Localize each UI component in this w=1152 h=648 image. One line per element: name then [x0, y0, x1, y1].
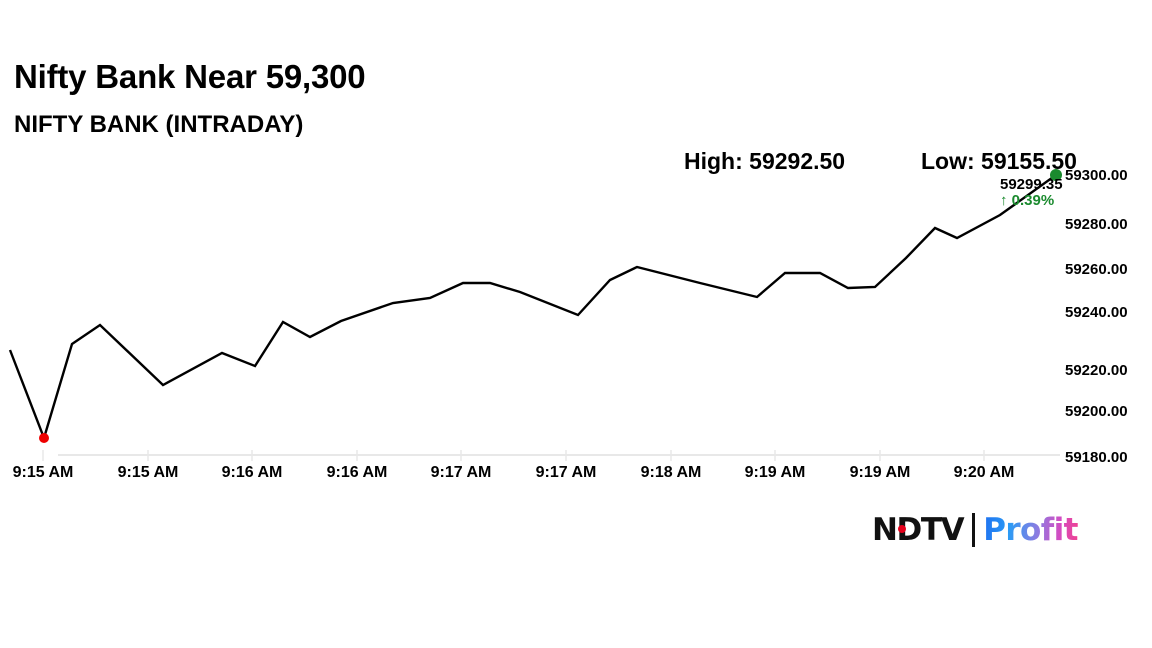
x-axis-tick-label: 9:15 AM	[118, 465, 179, 481]
price-line	[10, 175, 1056, 438]
ndtv-red-dot-icon	[898, 525, 906, 533]
x-axis-tick-label: 9:16 AM	[327, 465, 388, 481]
profit-wordmark: Profit	[983, 512, 1078, 548]
x-axis: 9:15 AM9:15 AM9:16 AM9:16 AM9:17 AM9:17 …	[0, 465, 1152, 489]
y-axis: 59300.0059280.0059260.0059240.0059220.00…	[1065, 0, 1152, 480]
ndtv-wordmark: NDTV	[872, 512, 963, 548]
y-axis-tick-label: 59240.00	[1065, 305, 1128, 320]
y-axis-tick-label: 59180.00	[1065, 450, 1128, 465]
x-axis-tick-label: 9:15 AM	[13, 465, 74, 481]
x-axis-tick-label: 9:17 AM	[431, 465, 492, 481]
last-price-callout: 59299.35 ↑ 0.39%	[1000, 177, 1063, 209]
x-axis-tick-label: 9:18 AM	[641, 465, 702, 481]
y-axis-tick-label: 59280.00	[1065, 217, 1128, 232]
chart-gridlines	[43, 450, 1060, 461]
x-axis-tick-label: 9:17 AM	[536, 465, 597, 481]
intraday-line-chart	[0, 0, 1152, 648]
x-axis-tick-label: 9:20 AM	[954, 465, 1015, 481]
ndtv-text: NDTV	[872, 512, 963, 548]
x-axis-tick-label: 9:19 AM	[850, 465, 911, 481]
low-price-marker	[39, 433, 49, 443]
x-axis-tick-label: 9:16 AM	[222, 465, 283, 481]
y-axis-tick-label: 59200.00	[1065, 404, 1128, 419]
price-change-value: ↑ 0.39%	[1000, 193, 1063, 209]
logo-divider	[972, 513, 975, 547]
y-axis-tick-label: 59300.00	[1065, 168, 1128, 183]
y-axis-tick-label: 59260.00	[1065, 262, 1128, 277]
ndtv-profit-logo: NDTV Profit	[872, 510, 1078, 550]
x-axis-tick-label: 9:19 AM	[745, 465, 806, 481]
last-price-value: 59299.35	[1000, 177, 1063, 193]
chart-page: Nifty Bank Near 59,300 NIFTY BANK (INTRA…	[0, 0, 1152, 648]
y-axis-tick-label: 59220.00	[1065, 363, 1128, 378]
